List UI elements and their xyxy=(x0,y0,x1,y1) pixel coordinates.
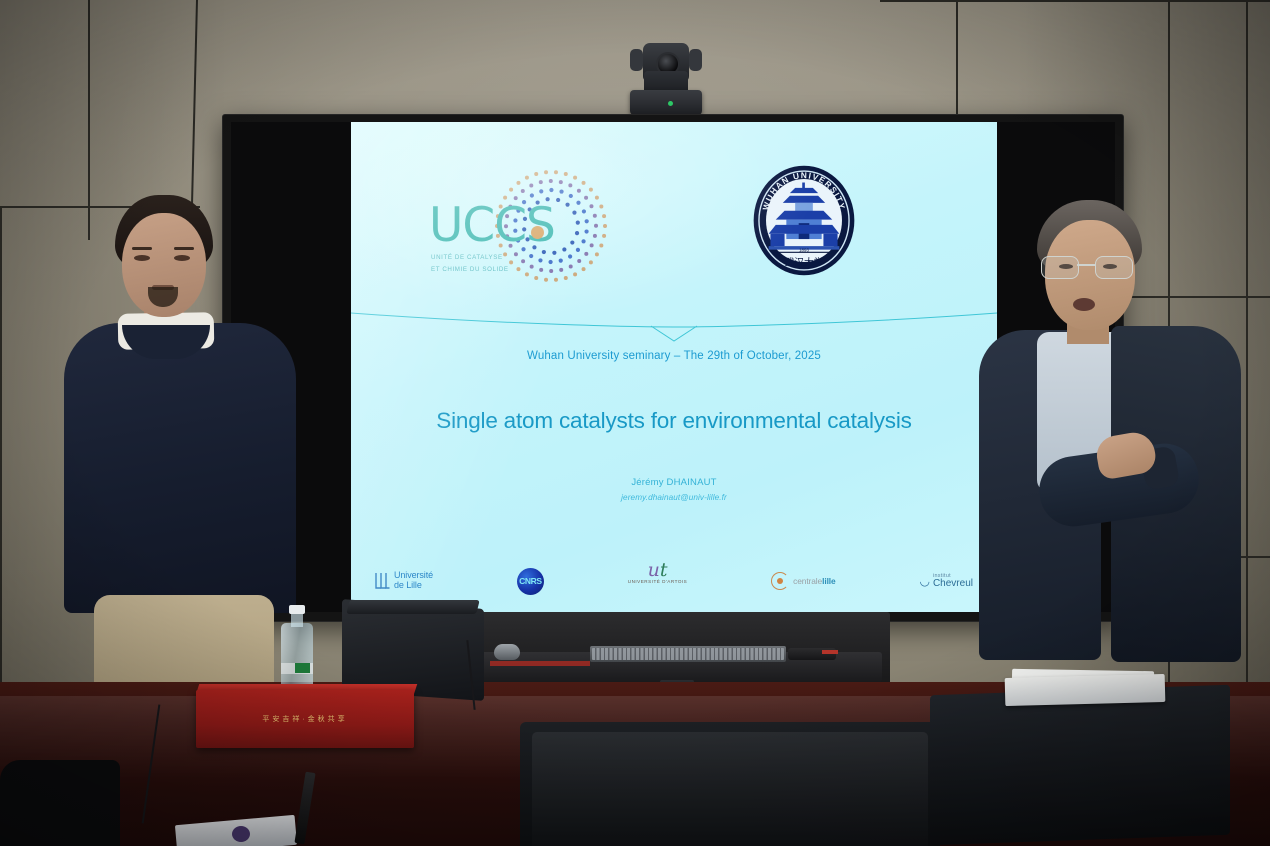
lille-label-line2: de Lille xyxy=(394,581,433,591)
logo-institut-chevreul: ◡ institut Chevreul xyxy=(919,561,973,601)
chevreul-label: institut Chevreul xyxy=(933,573,973,589)
conference-room-photo: UCCS UNITÉ DE CATALYSE ET CHIMIE DU SOLI… xyxy=(0,0,1270,846)
centralelille-label: centralelille xyxy=(793,576,835,586)
wuhan-seal-icon: WUHAN UNIVERSITY xyxy=(751,158,857,283)
svg-text:武汉大学: 武汉大学 xyxy=(785,256,824,269)
bottle-label-green xyxy=(295,663,310,673)
right-presenter-mouth-open xyxy=(1073,298,1095,311)
eyeglass-bridge xyxy=(1077,264,1095,266)
lille-bars-icon xyxy=(375,572,390,591)
remote-power-button[interactable] xyxy=(822,650,838,654)
booklet-cover-mark xyxy=(232,826,250,842)
ptz-conference-camera xyxy=(630,35,702,115)
eyeglasses-icon xyxy=(1041,256,1139,278)
slide-title: Single atom catalysts for environmental … xyxy=(351,408,997,434)
computer-mouse[interactable] xyxy=(494,644,520,660)
slide-footer-logos: Université de Lille CNRS ut UNIVERSITÉ D… xyxy=(363,558,985,604)
camera-base xyxy=(630,90,702,115)
microphone-unit-inner xyxy=(532,732,928,846)
logo-universite-artois: ut UNIVERSITÉ D'ARTOIS xyxy=(628,561,687,601)
artois-mark-icon: ut xyxy=(648,561,668,579)
keyboard[interactable] xyxy=(590,646,786,662)
centralelille-dot-icon xyxy=(777,578,783,584)
logo-centralelille: centralelille xyxy=(771,561,835,601)
seal-year: 1893 xyxy=(799,247,809,252)
laptop-keyboard[interactable] xyxy=(346,600,479,614)
lille-label: Université de Lille xyxy=(394,571,433,590)
uccs-subtitle-line1: UNITÉ DE CATALYSE xyxy=(431,252,509,264)
slide-seminar-line: Wuhan University seminary – The 29th of … xyxy=(351,350,997,362)
left-presenter-brow-left xyxy=(132,247,152,250)
presentation-slide: UCCS UNITÉ DE CATALYSE ET CHIMIE DU SOLI… xyxy=(351,122,997,612)
wall-seam xyxy=(880,0,1270,2)
slide-divider-icon xyxy=(351,307,997,343)
red-gift-box-inscription: 平安吉祥·金秋共享 xyxy=(196,714,414,724)
chevreul-mark-icon: ◡ xyxy=(919,575,929,587)
uccs-subtitle-line2: ET CHIMIE DU SOLIDE xyxy=(431,264,509,276)
slide-logo-row: UCCS UNITÉ DE CATALYSE ET CHIMIE DU SOLI… xyxy=(351,148,997,298)
conference-microphone-unit xyxy=(520,722,940,846)
tv-equipment-shelf xyxy=(470,612,890,690)
slide-author: Jérémy DHAINAUT xyxy=(351,477,997,488)
cnrs-label: CNRS xyxy=(519,576,542,586)
uccs-subtitle: UNITÉ DE CATALYSE ET CHIMIE DU SOLIDE xyxy=(431,252,509,276)
wuhan-university-seal-logo: WUHAN UNIVERSITY xyxy=(751,158,857,283)
centralelille-label-light: centrale xyxy=(793,576,822,586)
paper-stack xyxy=(1005,674,1166,706)
wall-seam xyxy=(956,0,958,120)
left-presenter-eye-right xyxy=(174,255,190,261)
keyboard-keys xyxy=(592,648,784,660)
left-presenter-eye-left xyxy=(134,255,150,261)
chevreul-label-line2: Chevreul xyxy=(933,579,973,589)
left-presenter-brow-right xyxy=(174,247,194,250)
red-strip xyxy=(490,661,590,666)
left-presenter-sweater xyxy=(64,323,296,613)
logo-cnrs: CNRS xyxy=(517,561,544,601)
sunken-monitor-right xyxy=(930,685,1230,845)
centralelille-label-bold: lille xyxy=(822,576,835,586)
uccs-accent-dot-icon xyxy=(531,226,544,239)
dark-foreground-object xyxy=(0,760,120,846)
camera-side-motor-right xyxy=(689,49,702,71)
artois-label: UNIVERSITÉ D'ARTOIS xyxy=(628,579,687,584)
cnrs-badge-icon: CNRS xyxy=(517,568,544,595)
slide-author-email: jeremy.dhainaut@univ-lille.fr xyxy=(351,493,997,502)
uccs-logo: UCCS UNITÉ DE CATALYSE ET CHIMIE DU SOLI… xyxy=(427,164,612,289)
red-gift-box: 平安吉祥·金秋共享 xyxy=(196,690,414,748)
eyeglass-lens-left xyxy=(1041,256,1079,279)
logo-universite-de-lille: Université de Lille xyxy=(375,561,433,601)
centralelille-ring-icon xyxy=(771,572,789,590)
camera-status-led xyxy=(668,101,673,106)
eyeglass-lens-right xyxy=(1095,256,1133,279)
camera-side-motor-left xyxy=(630,49,643,71)
